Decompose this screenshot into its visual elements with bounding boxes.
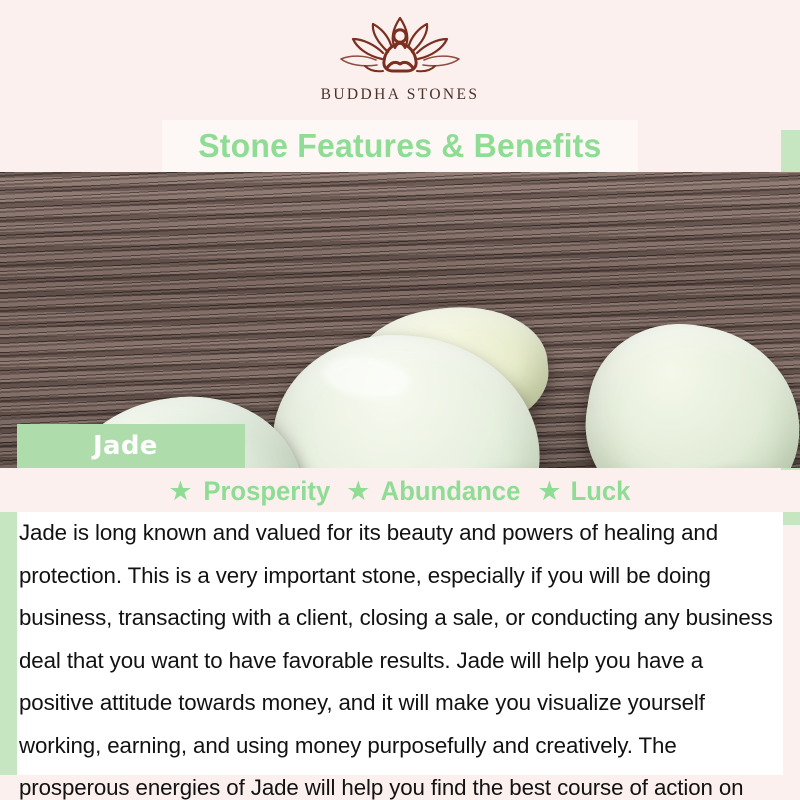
brand-header: BUDDHA STONES: [0, 0, 800, 118]
description-text: Jade is long known and valued for its be…: [19, 512, 773, 800]
benefit-item: ★ Abundance: [346, 476, 524, 507]
stone-name: Jade: [93, 431, 158, 461]
benefit-label: Luck: [570, 476, 630, 507]
benefits-row: ★ Prosperity ★ Abundance ★ Luck: [0, 470, 800, 512]
stone-info-card: BUDDHA STONES Stone Features & Benefits …: [0, 0, 800, 800]
star-icon: ★: [168, 478, 192, 505]
benefit-label: Abundance: [381, 476, 521, 507]
page-title: Stone Features & Benefits: [198, 127, 601, 165]
brand-name: BUDDHA STONES: [321, 86, 480, 104]
stone-name-bar: Jade: [17, 424, 245, 468]
star-icon: ★: [537, 478, 561, 505]
description-panel: Jade is long known and valued for its be…: [17, 510, 783, 775]
lotus-meditation-icon: [325, 12, 475, 84]
benefit-label: Prosperity: [203, 476, 330, 507]
benefit-item: ★ Prosperity: [168, 476, 333, 507]
star-icon: ★: [346, 478, 370, 505]
section-title-banner: Stone Features & Benefits: [162, 120, 638, 172]
benefit-item: ★ Luck: [537, 476, 631, 507]
